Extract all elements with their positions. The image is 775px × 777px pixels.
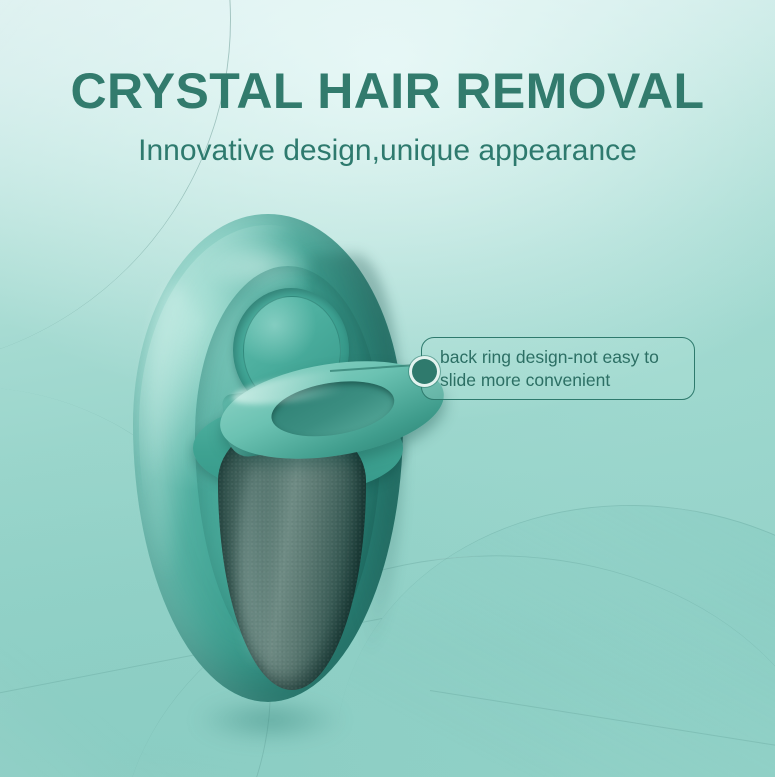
callout-text-line-1: back ring design-not easy to: [440, 346, 684, 369]
callout-marker-dot: [409, 356, 440, 387]
callout-text-line-2: slide more convenient: [440, 369, 684, 392]
page-subtitle: Innovative design,unique appearance: [0, 134, 775, 168]
product-poster: CRYSTAL HAIR REMOVAL Innovative design,u…: [0, 0, 775, 777]
product-device: [133, 214, 403, 702]
callout-box: back ring design-not easy to slide more …: [421, 337, 695, 400]
page-title: CRYSTAL HAIR REMOVAL: [0, 62, 775, 120]
crystal-panel-highlight: [239, 464, 275, 664]
